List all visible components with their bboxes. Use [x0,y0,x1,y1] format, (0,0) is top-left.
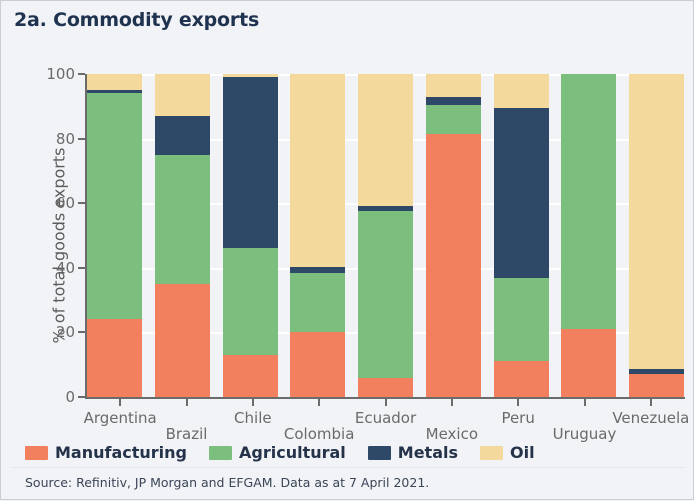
x-axis-tick [451,399,453,406]
bar-segment-agricultural[interactable] [358,211,413,377]
y-axis-tick [78,331,85,333]
bar-segment-agricultural[interactable] [561,74,616,329]
x-tick-label: Uruguay [553,425,617,443]
y-axis-tick-labels: 020406080100 [33,1,75,501]
source-note: Source: Refinitiv, JP Morgan and EFGAM. … [25,475,429,490]
legend-label: Metals [398,443,458,462]
legend-label: Agricultural [239,443,346,462]
y-axis-tick [78,267,85,269]
bar-group [87,74,684,397]
legend-item-metals[interactable]: Metals [368,443,458,462]
y-tick-label: 60 [41,194,75,212]
bar-segment-manufacturing[interactable] [494,361,549,397]
bar-segment-oil[interactable] [87,74,142,90]
bar-column[interactable] [223,74,278,397]
bar-column[interactable] [358,74,413,397]
bar-column[interactable] [290,74,345,397]
bar-segment-manufacturing[interactable] [358,378,413,397]
x-axis-tick [584,399,586,406]
x-tick-label: Ecuador [355,409,416,427]
y-axis-tick [78,138,85,140]
x-axis-tick [650,399,652,406]
footer-divider [11,467,685,468]
bar-segment-oil[interactable] [426,74,481,97]
bar-segment-agricultural[interactable] [223,248,278,355]
bar-column[interactable] [426,74,481,397]
bar-segment-agricultural[interactable] [87,93,142,319]
bar-segment-oil[interactable] [358,74,413,206]
x-axis-tick [318,399,320,406]
x-tick-label: Argentina [84,409,157,427]
legend-swatch-metals [368,446,391,460]
bar-segment-oil[interactable] [494,74,549,108]
bar-segment-oil[interactable] [290,74,345,267]
y-tick-label: 40 [41,259,75,277]
x-tick-label: Peru [501,409,534,427]
bar-segment-manufacturing[interactable] [629,374,684,397]
legend-item-oil[interactable]: Oil [480,443,535,462]
bar-segment-metals[interactable] [426,97,481,105]
legend-label: Oil [510,443,535,462]
bar-column[interactable] [87,74,142,397]
y-tick-label: 20 [41,323,75,341]
y-tick-label: 80 [41,130,75,148]
bar-segment-manufacturing[interactable] [426,134,481,397]
x-axis-tick [186,399,188,406]
x-axis-tick [252,399,254,406]
chart-figure: 2a. Commodity exports % of total goods e… [0,0,694,500]
legend-swatch-manufacturing [25,446,48,460]
x-axis-tick [517,399,519,406]
bar-segment-agricultural[interactable] [494,278,549,362]
x-tick-label: Mexico [426,425,478,443]
y-tick-label: 0 [41,388,75,406]
bar-segment-oil[interactable] [155,74,210,116]
bar-column[interactable] [155,74,210,397]
bar-segment-oil[interactable] [629,74,684,369]
x-axis-tick [119,399,121,406]
legend-item-agricultural[interactable]: Agricultural [209,443,346,462]
bar-segment-metals[interactable] [494,108,549,278]
x-tick-label: Colombia [284,425,355,443]
y-axis-tick [78,396,85,398]
legend-item-manufacturing[interactable]: Manufacturing [25,443,187,462]
bar-column[interactable] [629,74,684,397]
legend-label: Manufacturing [55,443,187,462]
bar-segment-manufacturing[interactable] [87,319,142,397]
y-axis-tick [78,202,85,204]
x-tick-label: Venezuela [612,409,689,427]
bar-segment-manufacturing[interactable] [561,329,616,397]
chart-legend: ManufacturingAgriculturalMetalsOil [25,443,535,462]
bar-segment-manufacturing[interactable] [290,332,345,397]
x-tick-label: Chile [234,409,272,427]
bar-segment-agricultural[interactable] [426,105,481,133]
y-tick-label: 100 [41,65,75,83]
bar-segment-agricultural[interactable] [155,155,210,284]
bar-segment-manufacturing[interactable] [155,284,210,397]
bar-segment-metals[interactable] [223,77,278,248]
legend-swatch-oil [480,446,503,460]
bar-column[interactable] [494,74,549,397]
bar-column[interactable] [561,74,616,397]
bar-segment-metals[interactable] [155,116,210,155]
y-axis-tick [78,73,85,75]
plot-area [87,74,684,397]
bar-segment-manufacturing[interactable] [223,355,278,397]
x-axis-tick [385,399,387,406]
x-tick-label: Brazil [166,425,208,443]
bar-segment-agricultural[interactable] [290,273,345,332]
legend-swatch-agricultural [209,446,232,460]
